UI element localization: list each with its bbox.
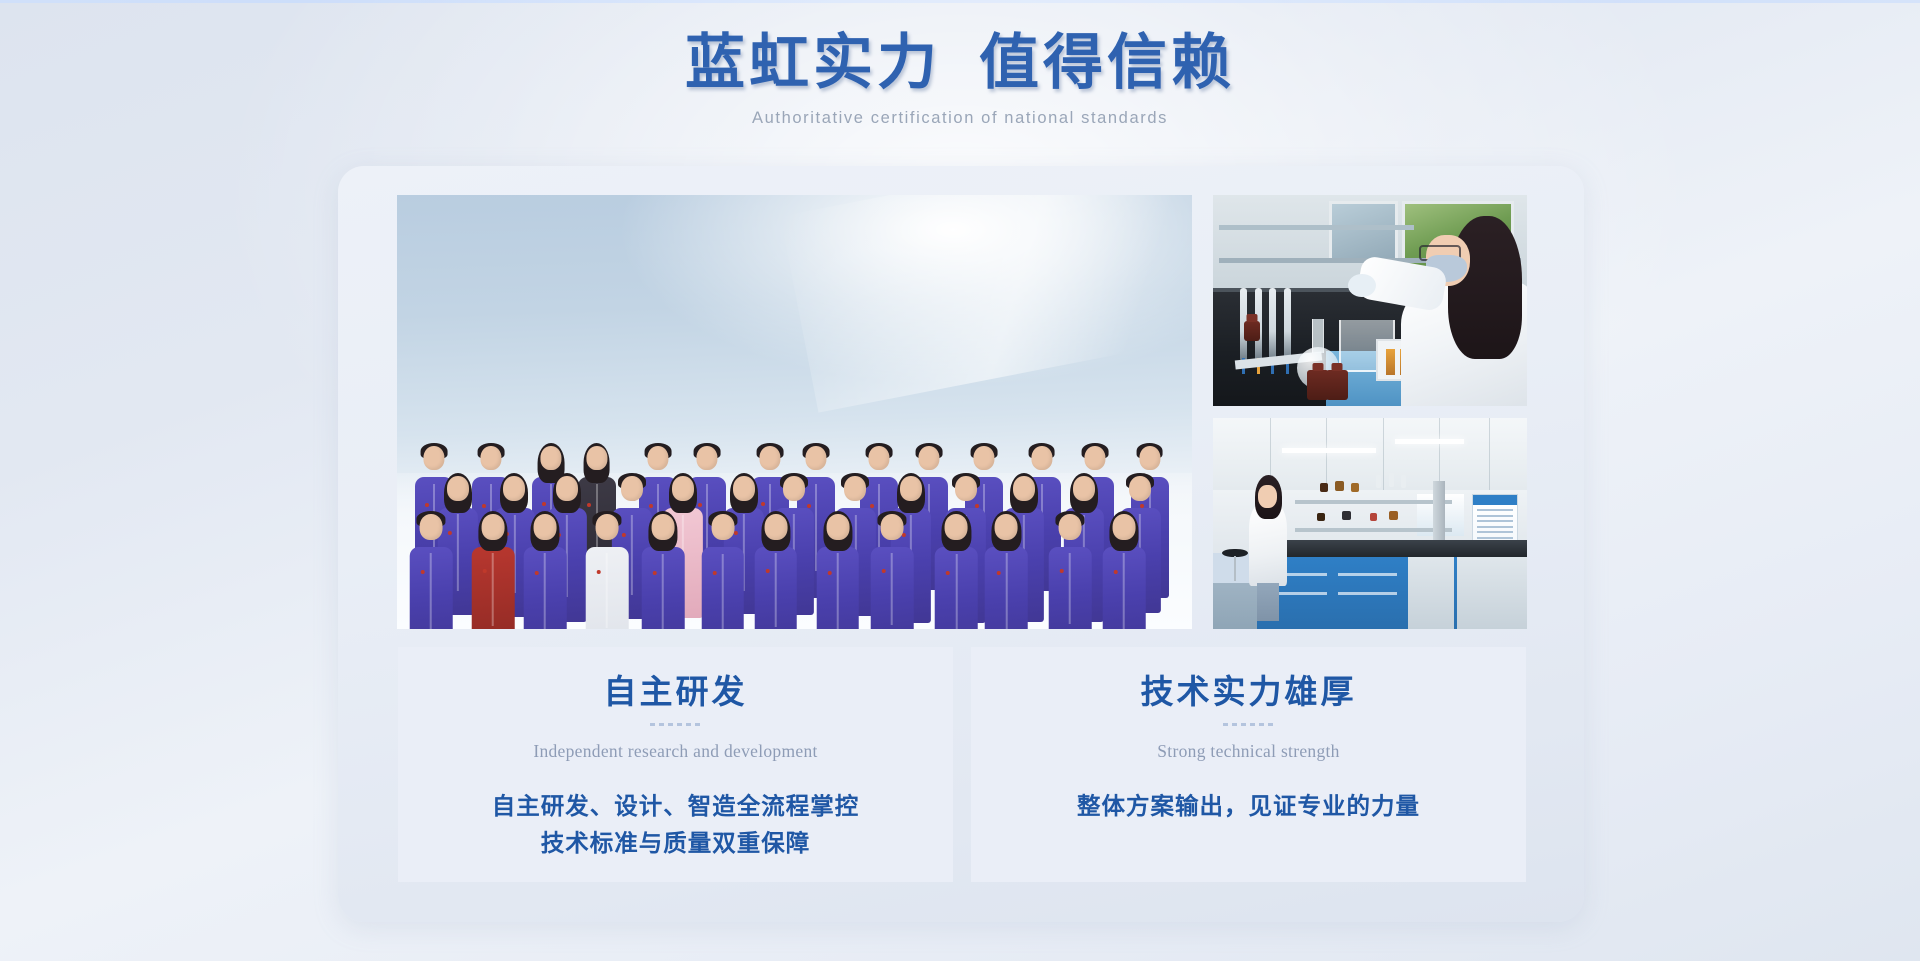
- ceiling-light: [1395, 439, 1464, 444]
- team-member: [586, 511, 629, 629]
- shelf-bottle: [1342, 511, 1351, 520]
- shelf-bottle: [1389, 473, 1394, 487]
- shelf-bottle: [1351, 483, 1359, 492]
- card-divider: [1223, 723, 1275, 726]
- team-member: [701, 511, 744, 629]
- page-title: 蓝虹实力 值得信赖: [0, 28, 1920, 99]
- team-member: [472, 511, 515, 629]
- team-member: [410, 511, 453, 629]
- photo-gallery: [397, 195, 1527, 629]
- reagent-shelf: [1295, 500, 1452, 504]
- side-photo-column: [1213, 195, 1527, 629]
- reagent-bottle: [1326, 370, 1348, 400]
- team-member: [935, 511, 978, 629]
- team-member: [1103, 511, 1146, 629]
- reagent-bottle: [1244, 321, 1260, 341]
- shelf-bottle: [1320, 483, 1328, 492]
- lab-cabinets: [1257, 557, 1527, 629]
- feature-card-rnd[interactable]: 自主研发 Independent research and developmen…: [398, 647, 953, 882]
- team-member: [642, 511, 685, 629]
- page-header: 蓝虹实力 值得信赖 Authoritative certification of…: [0, 28, 1920, 128]
- reagent-shelf: [1295, 528, 1452, 532]
- page-subtitle: Authoritative certification of national …: [0, 109, 1920, 128]
- upper-shelf: [1219, 225, 1414, 230]
- feature-card-technical[interactable]: 技术实力雄厚 Strong technical strength 整体方案输出，…: [971, 647, 1526, 882]
- content-panel: 自主研发 Independent research and developmen…: [338, 166, 1584, 922]
- shelf-bottle: [1335, 481, 1344, 491]
- card-title: 自主研发: [418, 673, 933, 714]
- lab-worker-figure: [1248, 475, 1289, 621]
- card-description: 整体方案输出，见证专业的力量: [991, 789, 1506, 825]
- card-title: 技术实力雄厚: [991, 673, 1506, 714]
- lab-stool: [1222, 549, 1247, 587]
- shelf-bottle: [1389, 511, 1398, 520]
- shelf-bottle: [1376, 475, 1381, 488]
- shelf-bottle: [1401, 475, 1406, 488]
- ceiling-light: [1282, 448, 1376, 453]
- lab-inner-window: [1329, 201, 1398, 262]
- shelf-bottle: [1370, 513, 1377, 521]
- lab-bench-surface: [1257, 540, 1527, 557]
- lab-technician-photo[interactable]: [1213, 195, 1527, 406]
- shelf-bottle: [1317, 513, 1325, 521]
- team-member: [985, 511, 1028, 629]
- team-member: [1049, 511, 1092, 629]
- card-subtitle: Strong technical strength: [991, 741, 1506, 762]
- team-group-photo[interactable]: [397, 195, 1192, 629]
- team-member: [817, 511, 860, 629]
- lab-room-photo[interactable]: [1213, 418, 1527, 629]
- card-subtitle: Independent research and development: [418, 741, 933, 762]
- team-member: [871, 511, 914, 629]
- card-description: 自主研发、设计、智造全流程掌控 技术标准与质量双重保障: [418, 789, 933, 862]
- feature-cards: 自主研发 Independent research and developmen…: [398, 647, 1526, 882]
- top-accent-bar: [0, 0, 1920, 3]
- team-member: [754, 511, 797, 629]
- card-divider: [650, 723, 702, 726]
- team-member: [524, 511, 567, 629]
- technician-figure: [1395, 212, 1527, 406]
